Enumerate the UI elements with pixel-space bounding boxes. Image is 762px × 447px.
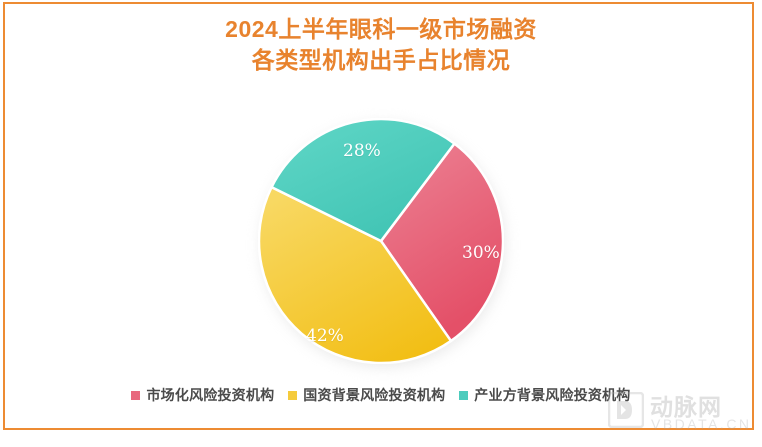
pie-label-industry-vc: 28% [343,141,381,161]
pie-graphic: 30% 42% 28% [258,118,504,364]
pie-label-state-vc: 42% [306,326,344,346]
chart-title-line-1: 2024上半年眼科一级市场融资 [0,14,762,45]
watermark-en-text: VBDATA.CN [651,416,752,432]
pie-slices-svg [258,118,504,364]
legend-swatch-icon [459,391,468,400]
chart-title: 2024上半年眼科一级市场融资 各类型机构出手占比情况 [0,14,762,76]
legend-item-industry-vc[interactable]: 产业方背景风险投资机构 [459,385,630,405]
bottom-white-strip [0,432,762,447]
legend-item-market-vc[interactable]: 市场化风险投资机构 [131,385,274,405]
pie-chart: 30% 42% 28% [0,96,762,376]
legend-item-state-vc[interactable]: 国资背景风险投资机构 [288,385,445,405]
legend-swatch-icon [288,391,297,400]
legend-label-state-vc: 国资背景风险投资机构 [303,385,445,405]
slide-canvas: 2024上半年眼科一级市场融资 各类型机构出手占比情况 [0,0,762,447]
legend-label-industry-vc: 产业方背景风险投资机构 [474,385,630,405]
legend-swatch-icon [131,391,140,400]
legend-label-market-vc: 市场化风险投资机构 [146,385,274,405]
pie-label-market-vc: 30% [462,243,500,263]
chart-legend: 市场化风险投资机构 国资背景风险投资机构 产业方背景风险投资机构 [0,385,762,405]
chart-title-line-2: 各类型机构出手占比情况 [0,45,762,76]
